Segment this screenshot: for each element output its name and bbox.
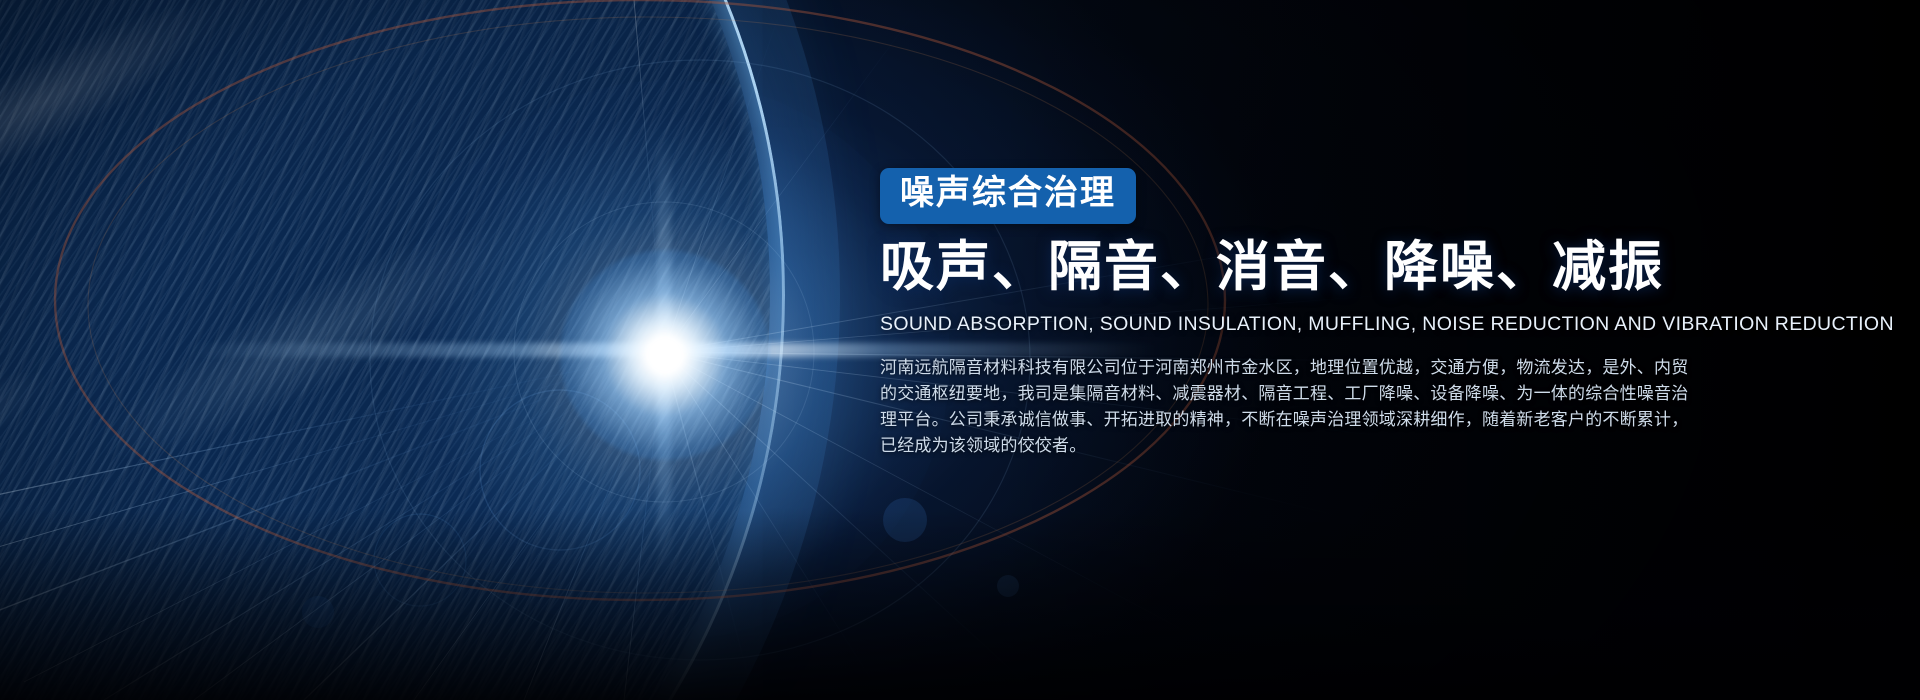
banner-subheadline: SOUND ABSORPTION, SOUND INSULATION, MUFF… bbox=[880, 313, 1880, 336]
description-line: 已经成为该领域的佼佼者。 bbox=[880, 433, 1880, 459]
description-line: 理平台。公司秉承诚信做事、开拓进取的精神，不断在噪声治理领域深耕细作，随着新老客… bbox=[880, 407, 1880, 433]
banner-description: 河南远航隔音材料科技有限公司位于河南郑州市金水区，地理位置优越，交通方便，物流发… bbox=[880, 355, 1880, 459]
sun-flare-core bbox=[560, 250, 770, 460]
banner-content: 噪声综合治理 吸声、隔音、消音、降噪、减振 SOUND ABSORPTION, … bbox=[880, 168, 1880, 459]
description-line: 的交通枢纽要地，我司是集隔音材料、减震器材、隔音工程、工厂降噪、设备降噪、为一体… bbox=[880, 381, 1880, 407]
description-line: 河南远航隔音材料科技有限公司位于河南郑州市金水区，地理位置优越，交通方便，物流发… bbox=[880, 355, 1880, 381]
hero-banner: 噪声综合治理 吸声、隔音、消音、降噪、减振 SOUND ABSORPTION, … bbox=[0, 0, 1920, 700]
bottom-fade-overlay bbox=[0, 510, 1920, 700]
category-badge: 噪声综合治理 bbox=[880, 168, 1136, 224]
banner-headline: 吸声、隔音、消音、降噪、减振 bbox=[880, 236, 1880, 299]
